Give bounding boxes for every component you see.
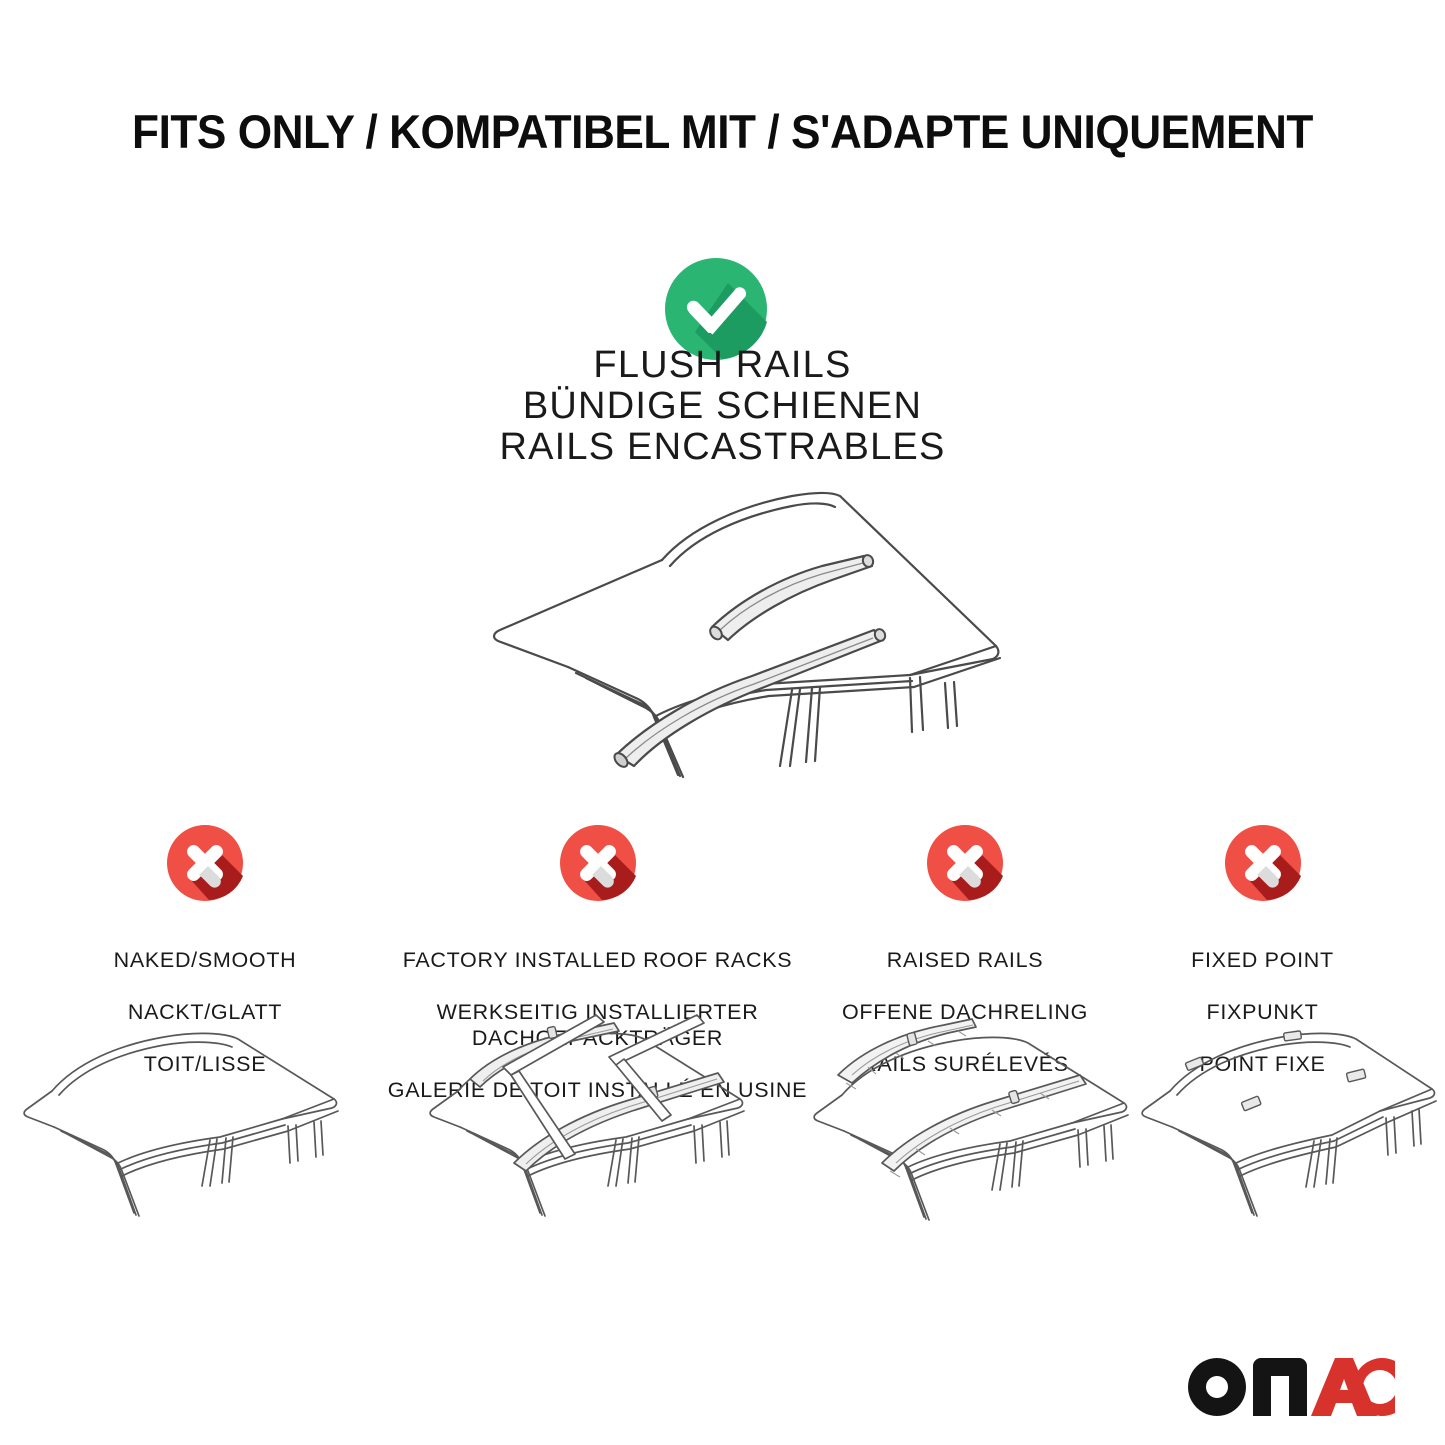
red-x-circle-icon bbox=[167, 825, 243, 901]
fixed-point-label-en: FIXED POINT bbox=[1110, 947, 1415, 973]
flush-rails-label-group: FLUSH RAILS BÜNDIGE SCHIENEN RAILS ENCAS… bbox=[0, 345, 1445, 468]
flush-rails-label-en: FLUSH RAILS bbox=[0, 345, 1445, 386]
car-roof-factory-roof-racks-illustration bbox=[400, 1003, 790, 1238]
car-roof-fixed-point-illustration bbox=[1132, 1021, 1445, 1236]
car-roof-naked-smooth-illustration bbox=[14, 1021, 374, 1236]
red-x-circle-icon bbox=[1225, 825, 1301, 901]
flush-rails-label-de: BÜNDIGE SCHIENEN bbox=[0, 386, 1445, 427]
red-x-circle-icon bbox=[927, 825, 1003, 901]
omac-logo-letter-m bbox=[1253, 1358, 1307, 1416]
car-roof-with-flush-rails-illustration bbox=[440, 470, 1020, 790]
factory-roof-racks-label-en: FACTORY INSTALLED ROOF RACKS bbox=[370, 947, 825, 973]
raised-rails-label-en: RAISED RAILS bbox=[790, 947, 1140, 973]
page-title: FITS ONLY / KOMPATIBEL MIT / S'ADAPTE UN… bbox=[43, 104, 1401, 159]
flush-rails-label-fr: RAILS ENCASTRABLES bbox=[0, 427, 1445, 468]
compatibility-infographic: FITS ONLY / KOMPATIBEL MIT / S'ADAPTE UN… bbox=[0, 0, 1445, 1445]
red-x-circle-icon bbox=[560, 825, 636, 901]
omac-logo-letter-o bbox=[1188, 1358, 1246, 1416]
omac-logo bbox=[1187, 1358, 1395, 1416]
naked-smooth-label-en: NAKED/SMOOTH bbox=[0, 947, 410, 973]
